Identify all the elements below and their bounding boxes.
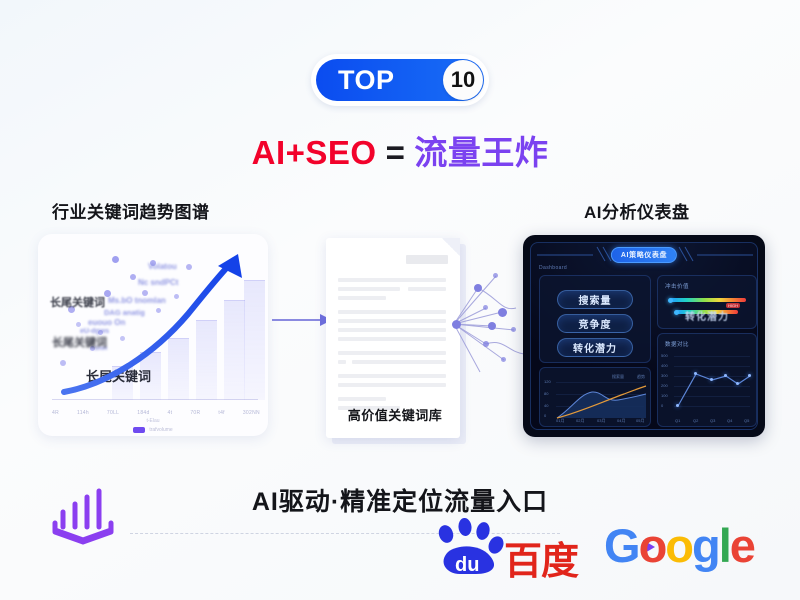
- network-node: [511, 327, 516, 332]
- flow-arrow-icon: [272, 312, 334, 328]
- document-text-line: [338, 310, 446, 314]
- document-text-line: [338, 337, 446, 341]
- gauge-knob: [668, 298, 673, 303]
- x-tick: 02月: [576, 418, 584, 424]
- gauge-panel: 冲击价值 HIGH 转化潜力: [657, 275, 757, 329]
- headline-left: AI+SEO: [252, 134, 377, 171]
- document-caption: 高价值关键词库: [332, 405, 458, 424]
- x-tick: Q2: [693, 418, 698, 423]
- x-tick: t4f: [218, 410, 224, 416]
- x-tick: Q5: [744, 418, 749, 423]
- x-tick: 70R: [190, 410, 200, 416]
- document-text-line: [338, 296, 386, 300]
- google-letter: l: [719, 519, 730, 572]
- x-tick: Q3: [710, 418, 715, 423]
- x-tick: 04月: [617, 418, 625, 424]
- footer-slogan: AI驱动·精准定位流量入口: [0, 482, 800, 518]
- network-node: [474, 284, 482, 292]
- bar-chart-pedestal-icon: [46, 482, 120, 548]
- top-badge-number-circle: 10: [443, 60, 483, 100]
- baidu-wordmark: 百度: [504, 530, 578, 585]
- top-badge-number: 10: [451, 67, 475, 93]
- document-text-line: [408, 287, 446, 291]
- document-header-block: [406, 255, 448, 264]
- x-tick: Q4: [727, 418, 732, 423]
- legend-label: trafvolume: [149, 427, 172, 433]
- google-wordmark: Google: [604, 522, 754, 569]
- network-node: [483, 341, 489, 347]
- x-tick: 03月: [597, 418, 605, 424]
- page-fold-icon: [442, 238, 460, 256]
- network-node: [488, 322, 496, 330]
- dashboard-subtitle: Dashboard: [539, 265, 567, 271]
- x-tick: 01月: [556, 418, 564, 424]
- document-text-line: [352, 360, 446, 364]
- x-tick: 05月: [636, 418, 644, 424]
- line-chart-panel: 数据对比 500 400 300 200 100 0: [657, 333, 757, 427]
- document-text-line: [338, 319, 446, 323]
- google-letter: o: [665, 519, 692, 572]
- metric-pill-competition[interactable]: 竞争度: [557, 314, 633, 333]
- google-letter: g: [692, 519, 719, 572]
- trend-plot: Volatou Nc sndPCt Ms.bO tnomlan DAG anat…: [38, 234, 268, 436]
- trend-x-ticks: 4R 114h 70LL 184d 4t 70R t4f 302NN: [52, 410, 260, 416]
- headline-equals: =: [386, 134, 406, 171]
- metrics-panel: 搜索量 竞争度 转化潜力: [539, 275, 651, 363]
- document-text-line: [338, 328, 446, 332]
- metric-pill-search-volume[interactable]: 搜索量: [557, 290, 633, 309]
- google-letter: G: [604, 519, 639, 572]
- top-badge: TOP 10: [311, 54, 489, 106]
- trend-x-axis-label: t-Elau: [38, 418, 268, 424]
- document-text-line: [338, 374, 446, 378]
- document-text-line: [338, 383, 446, 387]
- left-section-caption: 行业关键词趋势图谱: [52, 198, 210, 223]
- x-tick: 4t: [168, 410, 173, 416]
- x-tick: 114h: [77, 410, 89, 416]
- google-letter: e: [730, 519, 754, 572]
- x-tick: Q1: [675, 418, 680, 423]
- document-text-line: [338, 278, 446, 282]
- headline-right: 流量王炸: [414, 134, 548, 171]
- document-text-line: [338, 351, 446, 355]
- document-text-line: [338, 287, 400, 291]
- trend-chart-card: Volatou Nc sndPCt Ms.bO tnomlan DAG anat…: [38, 234, 268, 436]
- network-node: [498, 308, 507, 317]
- top-badge-word: TOP: [338, 65, 395, 96]
- google-letter: o: [639, 519, 666, 572]
- poster-canvas: TOP 10 AI+SEO=流量王炸 行业关键词趋势图谱 AI分析仪表盘: [0, 0, 800, 600]
- x-tick: 4R: [52, 410, 59, 416]
- gauge-panel-title: 冲击价值: [665, 282, 689, 290]
- page-title: AI+SEO=流量王炸: [0, 126, 800, 174]
- dashboard-screen: AI策略仪表盘 Dashboard 搜索量 竞争度 转化潜力 120 80 40…: [530, 242, 758, 430]
- network-node: [483, 305, 488, 310]
- network-node: [452, 320, 461, 329]
- gauge-overlay-label: 转化潜力: [658, 308, 756, 323]
- trend-legend: trafvolume: [38, 427, 268, 433]
- top-badge-inner: TOP 10: [316, 59, 484, 101]
- dashboard-title-badge: AI策略仪表盘: [611, 247, 677, 263]
- legend-swatch: [133, 427, 145, 433]
- trend-axis-line: [52, 399, 258, 400]
- right-section-caption: AI分析仪表盘: [584, 198, 690, 223]
- network-node: [501, 357, 506, 362]
- search-engine-logos: du 百度 Google: [424, 518, 754, 580]
- gauge-bar: [670, 298, 746, 302]
- ai-dashboard: AI策略仪表盘 Dashboard 搜索量 竞争度 转化潜力 120 80 40…: [523, 235, 765, 437]
- network-node: [493, 273, 498, 278]
- metric-pill-conversion[interactable]: 转化潜力: [557, 338, 633, 357]
- area-chart-panel: 120 80 40 0 搜索量 趋势 01月 02月 03月 04月 05月: [539, 367, 651, 427]
- document-text-line: [338, 397, 386, 401]
- document-text-line: [338, 360, 346, 364]
- x-tick: 70LL: [107, 410, 119, 416]
- svg-text:du: du: [455, 554, 479, 576]
- trend-arrow-icon: [38, 234, 268, 436]
- x-tick: 184d: [137, 410, 149, 416]
- x-tick: 302NN: [243, 410, 260, 416]
